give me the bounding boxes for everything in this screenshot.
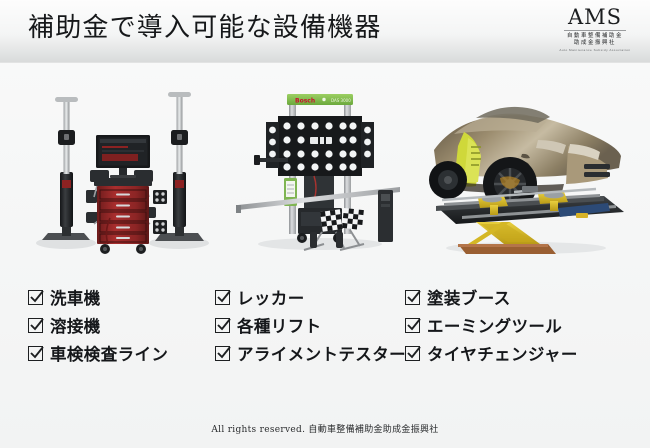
rear-wheel (429, 161, 467, 199)
scissor-lift-platform (436, 186, 624, 224)
checklist-item-label: レッカー (237, 285, 305, 309)
checklist-item[interactable]: 洗車機 (28, 283, 168, 311)
accessory-column (378, 190, 393, 242)
checked-box-icon (215, 318, 230, 333)
checklist-item-label: 洗車機 (50, 285, 101, 309)
checklist-column-3: 塗装ブース エーミングツール タイヤチェンジャー (405, 283, 578, 367)
checked-box-icon (28, 290, 43, 305)
checklist-item-label: 各種リフト (237, 313, 322, 337)
logo-wordmark: AMS (552, 6, 638, 28)
calibration-target-panel (266, 116, 374, 176)
camera-stand-left (36, 97, 96, 249)
checked-box-icon (405, 290, 420, 305)
page-title: 補助金で導入可能な設備機器 (28, 11, 382, 45)
checklist-column-1: 洗車機 溶接機 車検検査ライン (28, 283, 168, 367)
svg-text:DAS 3000: DAS 3000 (331, 98, 351, 103)
logo-subtitle-english: Auto Maintenance Subsidy Association (552, 48, 638, 53)
checklist-item[interactable]: 溶接機 (28, 311, 168, 339)
checklist-item[interactable]: 各種リフト (215, 311, 406, 339)
checklist-item[interactable]: エーミングツール (405, 311, 578, 339)
brand-banner: Bosch DAS 3000 (287, 94, 353, 105)
logo-subtitle-line2: 助成金振興社 (552, 40, 638, 47)
checklist-item[interactable]: 車検検査ライン (28, 339, 168, 367)
lift-base (458, 244, 556, 254)
checklist-item[interactable]: レッカー (215, 283, 406, 311)
checklist-item[interactable]: アライメントテスター (215, 339, 406, 367)
equipment-checklist: 洗車機 溶接機 車検検査ライン レッカー (0, 283, 650, 378)
logo-subtitle-line1: 自動車整備補助金 (552, 33, 638, 40)
checklist-item-label: アライメントテスター (237, 341, 406, 365)
tool-cabinet (94, 178, 152, 254)
svg-text:Bosch: Bosch (295, 98, 315, 105)
product-image-adas-aiming-tool: Bosch DAS 3000 (232, 72, 407, 267)
checklist-item-label: タイヤチェンジャー (427, 341, 578, 365)
checklist-column-2: レッカー 各種リフト アライメントテスター (215, 283, 406, 367)
product-image-wheel-alignment-tester (24, 72, 219, 267)
checklist-item-label: エーミングツール (427, 313, 562, 337)
checklist-item-label: 溶接機 (50, 313, 101, 337)
slide-header: 補助金で導入可能な設備機器 AMS 自動車整備補助金 助成金振興社 Auto M… (0, 0, 650, 63)
scissor-mechanism (468, 222, 540, 244)
checked-box-icon (215, 290, 230, 305)
footer-copyright: All rights reserved. 自動車整備補助金助成金振興社 (0, 422, 650, 435)
logo-divider (564, 30, 626, 31)
ams-logo: AMS 自動車整備補助金 助成金振興社 Auto Maintenance Sub… (552, 6, 638, 53)
checked-box-icon (405, 318, 420, 333)
product-gallery: Bosch DAS 3000 (0, 72, 650, 267)
slide-root: 補助金で導入可能な設備機器 AMS 自動車整備補助金 助成金振興社 Auto M… (0, 0, 650, 448)
checked-box-icon (28, 318, 43, 333)
checklist-item-label: 車検検査ライン (50, 341, 168, 365)
checklist-item-label: 塗装ブース (427, 285, 511, 309)
checklist-item[interactable]: 塗装ブース (405, 283, 578, 311)
checklist-item[interactable]: タイヤチェンジャー (405, 339, 578, 367)
product-image-scissor-car-lift (418, 72, 633, 267)
side-arm (258, 158, 288, 162)
checked-box-icon (215, 346, 230, 361)
checked-box-icon (28, 346, 43, 361)
checked-box-icon (405, 346, 420, 361)
